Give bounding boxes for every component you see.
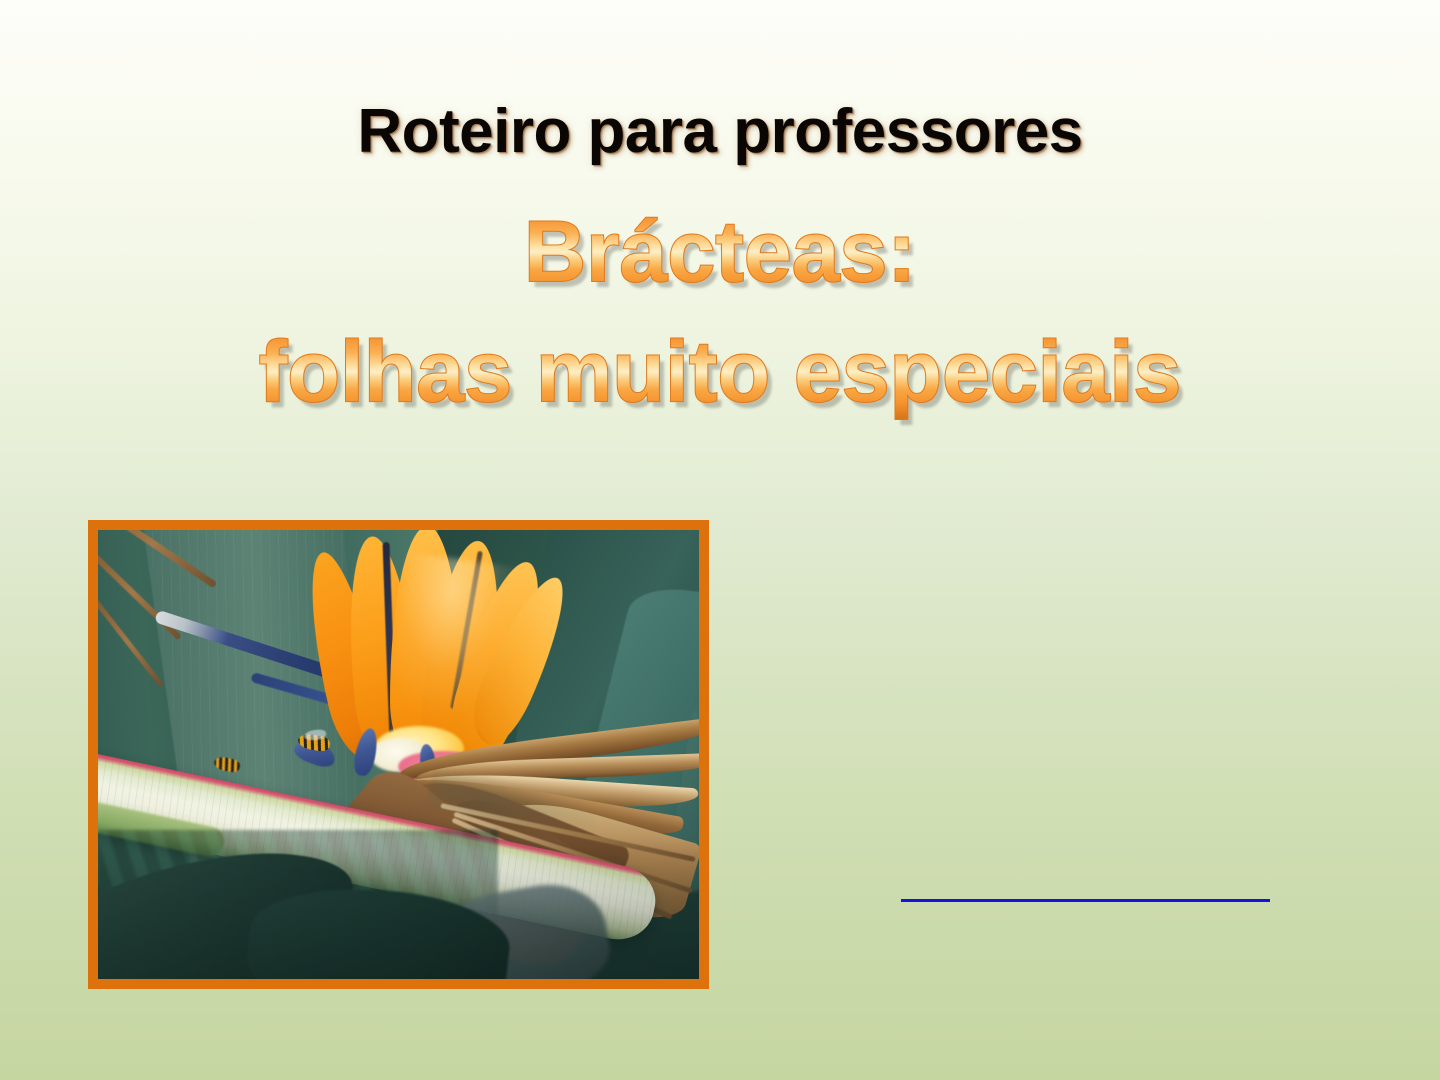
presentation-slide: Roteiro para professores Brácteas: Bráct…	[0, 0, 1440, 1080]
flower-photo-frame[interactable]	[88, 520, 709, 989]
wordart-title-line-1: Brácteas: Brácteas: Brácteas:	[0, 200, 1440, 304]
flower-photo	[98, 530, 699, 979]
photo-flower-highlight	[387, 552, 528, 727]
hyperlink-underline[interactable]	[901, 899, 1270, 902]
wordart-line-2-text: folhas muito especiais	[259, 324, 1181, 420]
wordart-title-line-2: folhas muito especiais folhas muito espe…	[0, 320, 1440, 424]
photo-bottom-shadow	[98, 839, 699, 979]
slide-heading: Roteiro para professores	[0, 96, 1440, 168]
wordart-line-1-text: Brácteas:	[524, 204, 916, 300]
